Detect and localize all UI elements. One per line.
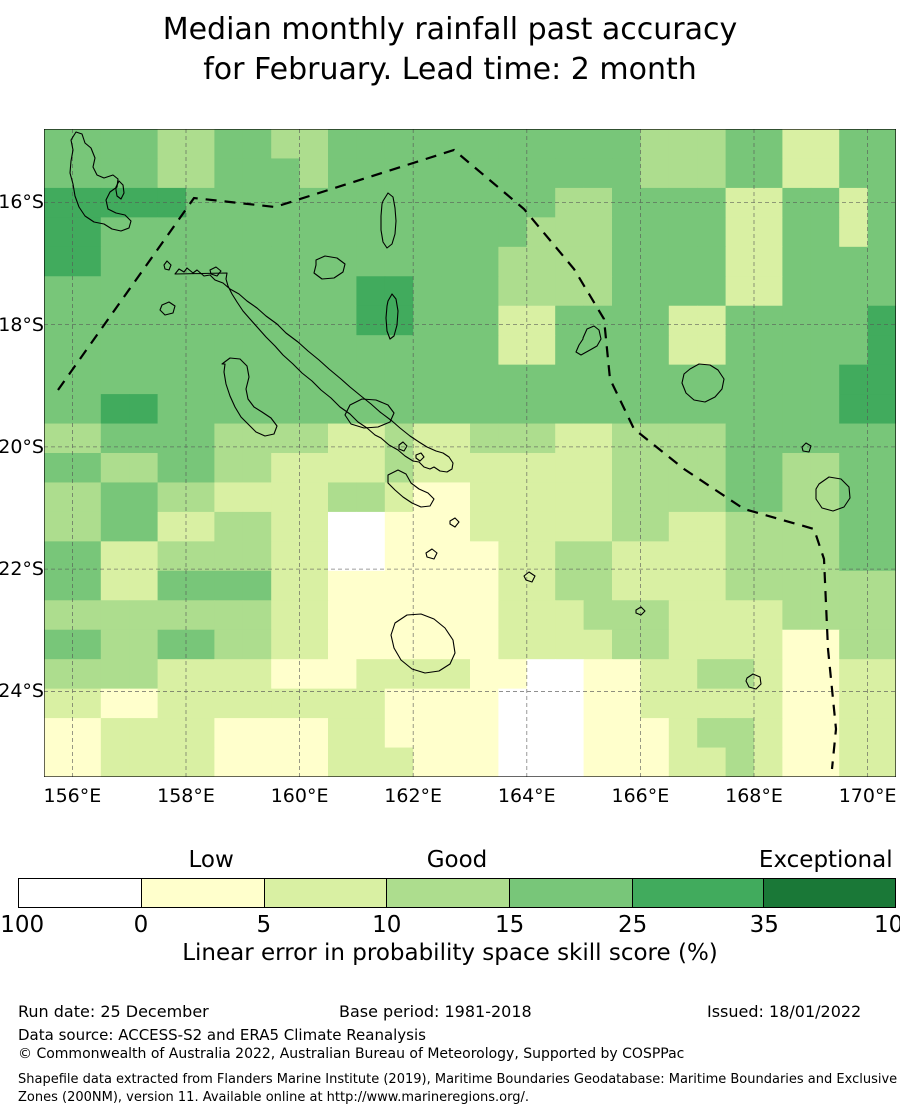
- heatmap-cell: [754, 453, 783, 483]
- heatmap-cell: [868, 541, 896, 571]
- heatmap-cell: [640, 394, 669, 424]
- heatmap-cell: [584, 659, 613, 689]
- heatmap-cell: [527, 718, 556, 748]
- colorbar-segment: [141, 879, 264, 907]
- heatmap-cell: [555, 748, 584, 777]
- heatmap-cell: [243, 482, 272, 512]
- heatmap-cell: [782, 158, 811, 188]
- heatmap-cell: [868, 247, 896, 277]
- heatmap-cell: [243, 129, 272, 159]
- heatmap-cell: [584, 689, 613, 719]
- heatmap-cell: [612, 541, 641, 571]
- heatmap-cell: [72, 541, 101, 571]
- heatmap-cell: [811, 276, 840, 306]
- heatmap-cell: [214, 158, 243, 188]
- heatmap-cell: [555, 158, 584, 188]
- heatmap-cell: [356, 659, 385, 689]
- heatmap-cell: [868, 129, 896, 159]
- heatmap-cell: [868, 512, 896, 542]
- heatmap-cell: [186, 217, 215, 247]
- heatmap-cell: [44, 748, 73, 777]
- heatmap-cell: [271, 424, 300, 454]
- heatmap-cell: [385, 158, 414, 188]
- heatmap-cell: [726, 158, 755, 188]
- heatmap-cell: [44, 571, 73, 601]
- heatmap-cell: [555, 424, 584, 454]
- heatmap-cell: [612, 571, 641, 601]
- heatmap-cell: [158, 482, 187, 512]
- heatmap-cell: [754, 247, 783, 277]
- heatmap-cell: [470, 689, 499, 719]
- heatmap-cell: [385, 365, 414, 395]
- heatmap-cell: [527, 453, 556, 483]
- heatmap-cell: [584, 748, 613, 777]
- heatmap-cell: [868, 482, 896, 512]
- heatmap-cell: [498, 659, 527, 689]
- heatmap-cell: [243, 217, 272, 247]
- colorbar-category-label: Low: [189, 847, 234, 873]
- heatmap-cell: [584, 512, 613, 542]
- heatmap-cell: [782, 718, 811, 748]
- heatmap-cell: [101, 394, 130, 424]
- heatmap-cell: [356, 335, 385, 365]
- heatmap-cell: [498, 335, 527, 365]
- heatmap-cell: [498, 276, 527, 306]
- heatmap-cell: [811, 306, 840, 336]
- heatmap-cell: [129, 512, 158, 542]
- heatmap-cell: [839, 276, 868, 306]
- heatmap-cell: [839, 600, 868, 630]
- heatmap-cell: [498, 689, 527, 719]
- heatmap-cell: [555, 600, 584, 630]
- heatmap-cell: [527, 512, 556, 542]
- colorbar-tick-label: 25: [618, 912, 647, 938]
- heatmap-cell: [129, 748, 158, 777]
- heatmap-cell: [839, 158, 868, 188]
- heatmap-cell: [782, 600, 811, 630]
- heatmap-cell: [44, 541, 73, 571]
- heatmap-cell: [158, 541, 187, 571]
- heatmap-cell: [129, 600, 158, 630]
- heatmap-cell: [555, 188, 584, 218]
- heatmap-cell: [555, 365, 584, 395]
- x-axis-tick-label: 166°E: [590, 785, 690, 807]
- heatmap-cell: [413, 512, 442, 542]
- heatmap-cell: [385, 394, 414, 424]
- heatmap-cell: [413, 571, 442, 601]
- heatmap-cell: [328, 129, 357, 159]
- heatmap-cell: [498, 188, 527, 218]
- heatmap-cell: [498, 748, 527, 777]
- heatmap-cell: [527, 158, 556, 188]
- heatmap-cell: [527, 659, 556, 689]
- heatmap-cell: [158, 571, 187, 601]
- heatmap-cell: [470, 630, 499, 660]
- heatmap-cell: [669, 394, 698, 424]
- heatmap-cell: [442, 600, 471, 630]
- heatmap-cell: [328, 512, 357, 542]
- heatmap-cell: [214, 600, 243, 630]
- heatmap-cell: [158, 158, 187, 188]
- heatmap-cell: [811, 659, 840, 689]
- heatmap-cell: [442, 748, 471, 777]
- heatmap-cell: [584, 600, 613, 630]
- heatmap-cell: [470, 512, 499, 542]
- heatmap-cell: [129, 365, 158, 395]
- heatmap-cell: [839, 217, 868, 247]
- heatmap-cell: [697, 217, 726, 247]
- heatmap-cell: [328, 630, 357, 660]
- heatmap-cell: [782, 365, 811, 395]
- heatmap-cell: [555, 571, 584, 601]
- heatmap-cell: [72, 630, 101, 660]
- footer-copyright: © Commonwealth of Australia 2022, Austra…: [18, 1046, 684, 1062]
- colorbar-tick-label: 15: [495, 912, 524, 938]
- heatmap-cell: [300, 335, 329, 365]
- heatmap-cell: [782, 571, 811, 601]
- heatmap-cell: [129, 630, 158, 660]
- heatmap-cell: [72, 748, 101, 777]
- heatmap-cell: [300, 129, 329, 159]
- heatmap-cell: [527, 335, 556, 365]
- heatmap-cell: [868, 424, 896, 454]
- heatmap-cell: [72, 217, 101, 247]
- heatmap-cell: [129, 247, 158, 277]
- heatmap-cell: [300, 718, 329, 748]
- heatmap-cell: [811, 748, 840, 777]
- heatmap-cell: [669, 659, 698, 689]
- heatmap-cell: [811, 158, 840, 188]
- heatmap-cell: [470, 571, 499, 601]
- heatmap-cell: [243, 158, 272, 188]
- heatmap-cell: [584, 453, 613, 483]
- heatmap-cell: [782, 276, 811, 306]
- heatmap-cell: [839, 512, 868, 542]
- heatmap-cell: [300, 365, 329, 395]
- heatmap-cell: [640, 630, 669, 660]
- heatmap-cell: [356, 512, 385, 542]
- heatmap-cell: [385, 247, 414, 277]
- heatmap-cell: [328, 158, 357, 188]
- heatmap-cell: [186, 158, 215, 188]
- heatmap-cell: [44, 188, 73, 218]
- heatmap-cell: [640, 335, 669, 365]
- heatmap-cell: [868, 689, 896, 719]
- heatmap-cell: [129, 158, 158, 188]
- heatmap-cell: [754, 276, 783, 306]
- heatmap-cell: [612, 394, 641, 424]
- heatmap-cell: [726, 571, 755, 601]
- heatmap-cell: [442, 276, 471, 306]
- colorbar-region: LowGoodExceptional -1000510152535100: [0, 845, 900, 945]
- heatmap-cell: [72, 512, 101, 542]
- heatmap-cell: [584, 571, 613, 601]
- heatmap-cell: [811, 335, 840, 365]
- heatmap-cell: [782, 541, 811, 571]
- heatmap-cell: [498, 453, 527, 483]
- heatmap-cell: [129, 718, 158, 748]
- heatmap-cell: [754, 571, 783, 601]
- heatmap-cell: [868, 600, 896, 630]
- heatmap-cell: [271, 453, 300, 483]
- heatmap-cell: [555, 306, 584, 336]
- heatmap-cell: [811, 630, 840, 660]
- heatmap-cell: [811, 217, 840, 247]
- y-axis-tick-label: 22°S: [0, 558, 44, 580]
- heatmap-cell: [754, 158, 783, 188]
- heatmap-cell: [44, 718, 73, 748]
- heatmap-cell: [726, 600, 755, 630]
- heatmap-cell: [101, 453, 130, 483]
- heatmap-cell: [584, 158, 613, 188]
- heatmap-cell: [839, 541, 868, 571]
- heatmap-cell: [44, 394, 73, 424]
- heatmap-cell: [300, 512, 329, 542]
- y-axis-tick-label: 18°S: [0, 314, 44, 336]
- heatmap-cell: [555, 512, 584, 542]
- heatmap-cell: [271, 600, 300, 630]
- heatmap-cell: [44, 630, 73, 660]
- heatmap-cell: [868, 276, 896, 306]
- heatmap-cell: [697, 306, 726, 336]
- heatmap-cell: [101, 748, 130, 777]
- heatmap-cell: [527, 424, 556, 454]
- heatmap-cell: [413, 630, 442, 660]
- heatmap-cell: [328, 276, 357, 306]
- x-axis-tick-label: 160°E: [250, 785, 350, 807]
- heatmap-cell: [101, 482, 130, 512]
- heatmap-cell: [271, 689, 300, 719]
- heatmap-cell: [442, 188, 471, 218]
- heatmap-cell: [271, 571, 300, 601]
- heatmap-cell: [612, 276, 641, 306]
- heatmap-cell: [44, 306, 73, 336]
- heatmap-cell: [186, 630, 215, 660]
- heatmap-cell: [413, 306, 442, 336]
- heatmap-cell: [640, 217, 669, 247]
- heatmap-cell: [612, 482, 641, 512]
- heatmap-cell: [527, 541, 556, 571]
- heatmap-cell: [555, 335, 584, 365]
- heatmap-cell: [839, 306, 868, 336]
- heatmap-cell: [158, 365, 187, 395]
- heatmap-cell: [101, 541, 130, 571]
- heatmap-cell: [44, 247, 73, 277]
- heatmap-cell: [868, 306, 896, 336]
- heatmap-cell: [669, 188, 698, 218]
- heatmap-cell: [868, 659, 896, 689]
- heatmap-cell: [498, 718, 527, 748]
- heatmap-cell: [214, 365, 243, 395]
- heatmap-cell: [356, 365, 385, 395]
- heatmap-cell: [782, 689, 811, 719]
- heatmap-cell: [44, 424, 73, 454]
- heatmap-cell: [72, 247, 101, 277]
- heatmap-cell: [754, 659, 783, 689]
- heatmap-cell: [470, 600, 499, 630]
- heatmap-cell: [328, 188, 357, 218]
- heatmap-cell: [868, 718, 896, 748]
- heatmap-cell: [243, 306, 272, 336]
- heatmap-cell: [385, 188, 414, 218]
- heatmap-cell: [555, 217, 584, 247]
- colorbar-tick-label: 5: [257, 912, 272, 938]
- heatmap-cell: [356, 748, 385, 777]
- heatmap-cell: [498, 365, 527, 395]
- heatmap-cell: [584, 718, 613, 748]
- heatmap-cell: [697, 335, 726, 365]
- heatmap-cell: [385, 748, 414, 777]
- heatmap-cell: [214, 306, 243, 336]
- heatmap-cell: [442, 424, 471, 454]
- heatmap-cell: [726, 718, 755, 748]
- heatmap-cell: [101, 158, 130, 188]
- heatmap-cell: [726, 188, 755, 218]
- heatmap-cell: [442, 541, 471, 571]
- heatmap-cell: [726, 365, 755, 395]
- heatmap-cell: [158, 748, 187, 777]
- heatmap-cell: [356, 541, 385, 571]
- heatmap-cell: [811, 600, 840, 630]
- heatmap-cell: [612, 129, 641, 159]
- heatmap-cell: [612, 748, 641, 777]
- heatmap-cell: [186, 129, 215, 159]
- heatmap-cell: [612, 512, 641, 542]
- heatmap-cell: [158, 129, 187, 159]
- heatmap-cell: [754, 630, 783, 660]
- heatmap-cell: [271, 217, 300, 247]
- heatmap-cell: [669, 335, 698, 365]
- heatmap-cell: [697, 689, 726, 719]
- heatmap-cell: [413, 188, 442, 218]
- heatmap-cell: [612, 188, 641, 218]
- heatmap-cell: [129, 453, 158, 483]
- heatmap-cell: [356, 571, 385, 601]
- heatmap-cell: [158, 424, 187, 454]
- heatmap-cell: [527, 748, 556, 777]
- heatmap-cell: [44, 659, 73, 689]
- heatmap-cell: [72, 306, 101, 336]
- heatmap-cell: [243, 600, 272, 630]
- heatmap-cell: [470, 659, 499, 689]
- heatmap-cell: [158, 689, 187, 719]
- heatmap-cell: [129, 335, 158, 365]
- heatmap-cell: [442, 689, 471, 719]
- heatmap-cell: [442, 306, 471, 336]
- heatmap-cell: [300, 306, 329, 336]
- heatmap-cell: [442, 482, 471, 512]
- heatmap-cell: [640, 541, 669, 571]
- heatmap-cell: [527, 365, 556, 395]
- heatmap-cell: [442, 453, 471, 483]
- heatmap-cell: [243, 748, 272, 777]
- heatmap-cell: [442, 659, 471, 689]
- heatmap-cell: [527, 217, 556, 247]
- heatmap-cell: [356, 718, 385, 748]
- heatmap-cell: [271, 129, 300, 159]
- heatmap-cell: [44, 600, 73, 630]
- heatmap-cell: [300, 748, 329, 777]
- heatmap-cell: [868, 748, 896, 777]
- heatmap-cell: [584, 247, 613, 277]
- heatmap-cell: [413, 217, 442, 247]
- heatmap-cell: [782, 335, 811, 365]
- heatmap-cell: [527, 689, 556, 719]
- heatmap-cell: [442, 630, 471, 660]
- colorbar-segment: [19, 879, 141, 907]
- heatmap-cell: [300, 482, 329, 512]
- heatmap-cell: [129, 689, 158, 719]
- heatmap-cell: [101, 718, 130, 748]
- heatmap-cell: [612, 335, 641, 365]
- heatmap-cell: [385, 571, 414, 601]
- heatmap-cell: [271, 276, 300, 306]
- heatmap-cell: [186, 276, 215, 306]
- heatmap-cell: [442, 158, 471, 188]
- heatmap-cell: [669, 571, 698, 601]
- heatmap-cell: [726, 512, 755, 542]
- heatmap-cells: [44, 129, 896, 777]
- heatmap-cell: [101, 424, 130, 454]
- heatmap-cell: [271, 247, 300, 277]
- heatmap-cell: [300, 276, 329, 306]
- heatmap-cell: [271, 512, 300, 542]
- heatmap-cell: [612, 600, 641, 630]
- heatmap-cell: [158, 247, 187, 277]
- heatmap-cell: [129, 217, 158, 247]
- heatmap-cell: [839, 748, 868, 777]
- heatmap-cell: [498, 600, 527, 630]
- heatmap-cell: [669, 512, 698, 542]
- heatmap-cell: [72, 394, 101, 424]
- heatmap-cell: [555, 276, 584, 306]
- heatmap-cell: [385, 718, 414, 748]
- heatmap-cell: [584, 482, 613, 512]
- heatmap-cell: [72, 158, 101, 188]
- heatmap-cell: [44, 129, 73, 159]
- heatmap-cell: [498, 129, 527, 159]
- heatmap-cell: [697, 424, 726, 454]
- heatmap-cell: [129, 659, 158, 689]
- footer-shapefile-line1: Shapefile data extracted from Flanders M…: [18, 1072, 900, 1087]
- heatmap-cell: [214, 748, 243, 777]
- heatmap-cell: [72, 718, 101, 748]
- heatmap-cell: [640, 306, 669, 336]
- heatmap-cell: [640, 365, 669, 395]
- heatmap-cell: [612, 217, 641, 247]
- heatmap-cell: [726, 689, 755, 719]
- heatmap-cell: [328, 748, 357, 777]
- heatmap-cell: [527, 630, 556, 660]
- heatmap-cell: [868, 571, 896, 601]
- footer-data-source: Data source: ACCESS-S2 and ERA5 Climate …: [18, 1026, 426, 1044]
- heatmap-cell: [498, 306, 527, 336]
- heatmap-cell: [669, 424, 698, 454]
- heatmap-cell: [527, 571, 556, 601]
- heatmap-cell: [413, 424, 442, 454]
- heatmap-cell: [782, 217, 811, 247]
- heatmap-cell: [640, 748, 669, 777]
- heatmap-cell: [555, 453, 584, 483]
- heatmap-cell: [186, 689, 215, 719]
- heatmap-cell: [271, 748, 300, 777]
- heatmap-cell: [214, 630, 243, 660]
- heatmap-cell: [356, 600, 385, 630]
- heatmap-cell: [243, 453, 272, 483]
- x-axis-tick-label: 158°E: [136, 785, 236, 807]
- heatmap-cell: [726, 748, 755, 777]
- heatmap-cell: [214, 453, 243, 483]
